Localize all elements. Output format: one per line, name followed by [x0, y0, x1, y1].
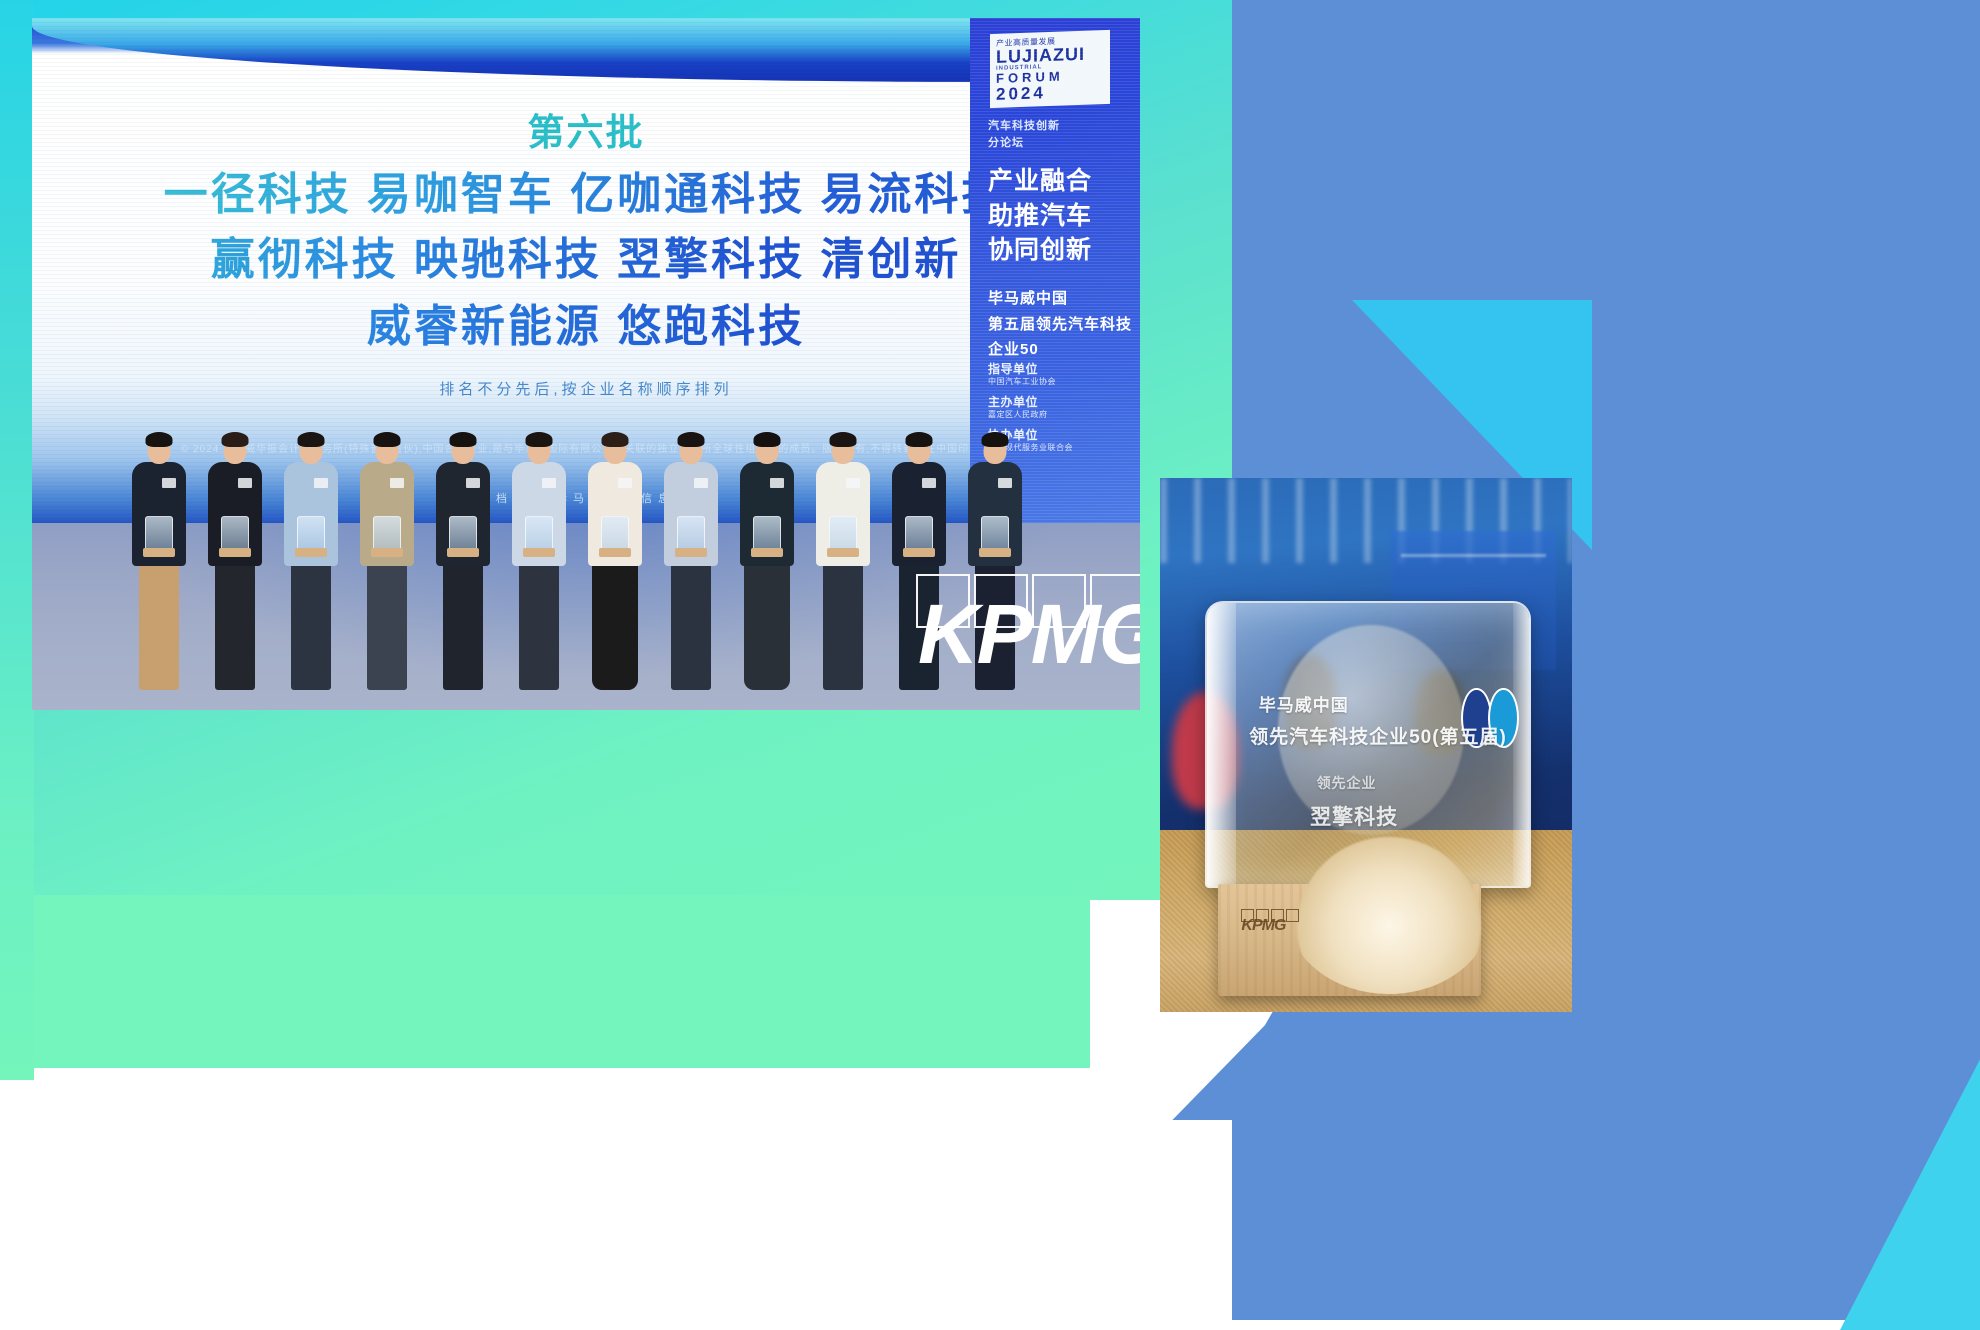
awardee-trophy-base [827, 548, 859, 557]
awardee-held-trophy [905, 516, 933, 552]
kpmg-watermark-logo: KPMG [916, 574, 1140, 668]
awardee-hair [982, 432, 1009, 447]
awardee-figure [204, 424, 266, 710]
awardee-hair [450, 432, 477, 447]
awardee-held-trophy [753, 516, 781, 552]
awardee-lower-body [443, 562, 483, 690]
awardee-trophy-base [295, 548, 327, 557]
awardee-held-trophy [677, 516, 705, 552]
standee-award-name: 毕马威中国 第五届领先汽车科技企业50 [988, 286, 1140, 363]
awardee-held-trophy [373, 516, 401, 552]
awardee-hair [526, 432, 553, 447]
awardee-hair [222, 432, 249, 447]
awardee-trophy-base [371, 548, 403, 557]
awardee-hair [906, 432, 933, 447]
kpmg-engraved-logo: KPMG [1241, 909, 1299, 932]
awardee-lower-body [671, 562, 711, 690]
background-mint-block [0, 895, 1090, 1075]
awardee-figure [128, 424, 190, 710]
awardee-lower-body [367, 562, 407, 690]
awardee-figure [356, 424, 418, 710]
awardee-hair [374, 432, 401, 447]
awardee-figure [280, 424, 342, 710]
awardee-held-trophy [145, 516, 173, 552]
awardee-hair [754, 432, 781, 447]
forum-logo-lujiazui: LUJIAZUI [996, 45, 1104, 66]
awardee-figure [736, 424, 798, 710]
screen-text-line [1401, 554, 1546, 557]
background-left-edge-strip [0, 0, 34, 1080]
award-ceremony-group-photo: 第六批 一径科技 易咖智车 亿咖通科技 易流科技 赢彻科技 映驰科技 翌擎科技 … [32, 18, 1140, 710]
standee-org-role-1: 主办单位 [988, 395, 1073, 410]
forum-logo-forum: FORUM [996, 68, 1104, 86]
awardee-held-trophy [221, 516, 249, 552]
standee-title-line-1: 产业融合 [988, 164, 1092, 199]
awardee-name-badge [162, 478, 176, 488]
standee-subtitle-line-1: 汽车科技创新 [988, 118, 1060, 135]
awardee-trophy-base [675, 548, 707, 557]
awardee-trophy-base [143, 548, 175, 557]
standee-org-name-0: 中国汽车工业协会 [988, 377, 1073, 387]
awardee-figure [660, 424, 722, 710]
standee-org-name-1: 嘉定区人民政府 [988, 410, 1073, 420]
awardee-lower-body [139, 562, 179, 690]
standee-subtitle-line-2: 分论坛 [988, 135, 1060, 152]
awardee-hair [602, 432, 629, 447]
awardee-trophy-base [903, 548, 935, 557]
awardee-trophy-base [979, 548, 1011, 557]
trophy-wooden-base: KPMG [1218, 884, 1482, 996]
awardee-lower-body [215, 562, 255, 690]
awardee-held-trophy [601, 516, 629, 552]
awardee-hair [298, 432, 325, 447]
awardee-lower-body [744, 562, 790, 690]
awardee-hair [830, 432, 857, 447]
awardee-hair [146, 432, 173, 447]
awardee-figure [812, 424, 874, 710]
awardee-name-badge [846, 478, 860, 488]
background-white-block [0, 1068, 1090, 1320]
awardee-name-badge [694, 478, 708, 488]
trophy-engraving-line-1: 毕马威中国 [1259, 691, 1349, 716]
awardee-name-badge [618, 478, 632, 488]
awardee-held-trophy [829, 516, 857, 552]
lujiazui-forum-logo: 产业高质量发展 LUJIAZUI INDUSTRIAL FORUM 2024 [990, 30, 1110, 108]
glass-highlight-left [1207, 603, 1236, 886]
standee-award-line-2: 第五届领先汽车科技企业50 [988, 312, 1140, 363]
awardee-figure [508, 424, 570, 710]
awardee-name-badge [390, 478, 404, 488]
awardee-hair [678, 432, 705, 447]
forum-logo-industrial: INDUSTRIAL [996, 62, 1104, 72]
glass-highlight-right [1513, 603, 1529, 886]
awardee-figure [432, 424, 494, 710]
standee-main-title: 产业融合 助推汽车 协同创新 [988, 164, 1092, 268]
forum-logo-chinese: 产业高质量发展 [996, 34, 1104, 49]
trophy-engraving-line-3: 领先企业 [1317, 773, 1377, 793]
awardee-name-badge [770, 478, 784, 488]
kpmg-engraved-wordmark: KPMG [1241, 920, 1299, 932]
forum-logo-year: 2024 [996, 83, 1104, 104]
awardee-held-trophy [525, 516, 553, 552]
standee-subtitle: 汽车科技创新 分论坛 [988, 118, 1060, 151]
standee-title-line-2: 助推汽车 [988, 199, 1092, 234]
awardee-trophy-base [599, 548, 631, 557]
awardee-name-badge [238, 478, 252, 488]
awardee-lower-body [291, 562, 331, 690]
awardee-trophy-base [751, 548, 783, 557]
awardee-name-badge [542, 478, 556, 488]
awardee-figure [584, 424, 646, 710]
awardee-name-badge [998, 478, 1012, 488]
awardee-lower-body [592, 562, 638, 690]
awardee-held-trophy [297, 516, 325, 552]
awardee-lower-body [823, 562, 863, 690]
awardee-name-badge [922, 478, 936, 488]
awardee-lower-body [519, 562, 559, 690]
awardee-name-badge [466, 478, 480, 488]
wooden-base-wave-cutout [1286, 826, 1492, 994]
award-trophy-closeup-photo: 毕马威中国 领先汽车科技企业50(第五届) 领先企业 翌擎科技 KPMG [1160, 478, 1572, 1012]
awardee-name-badge [314, 478, 328, 488]
awardee-trophy-base [447, 548, 479, 557]
standee-org-role-0: 指导单位 [988, 362, 1073, 377]
standee-title-line-3: 协同创新 [988, 233, 1092, 268]
awardee-held-trophy [981, 516, 1009, 552]
trophy-engraving-line-2: 领先汽车科技企业50(第五届) [1249, 722, 1507, 749]
standee-award-line-1: 毕马威中国 [988, 286, 1140, 312]
awardee-trophy-base [523, 548, 555, 557]
awardee-trophy-base [219, 548, 251, 557]
awardee-held-trophy [449, 516, 477, 552]
